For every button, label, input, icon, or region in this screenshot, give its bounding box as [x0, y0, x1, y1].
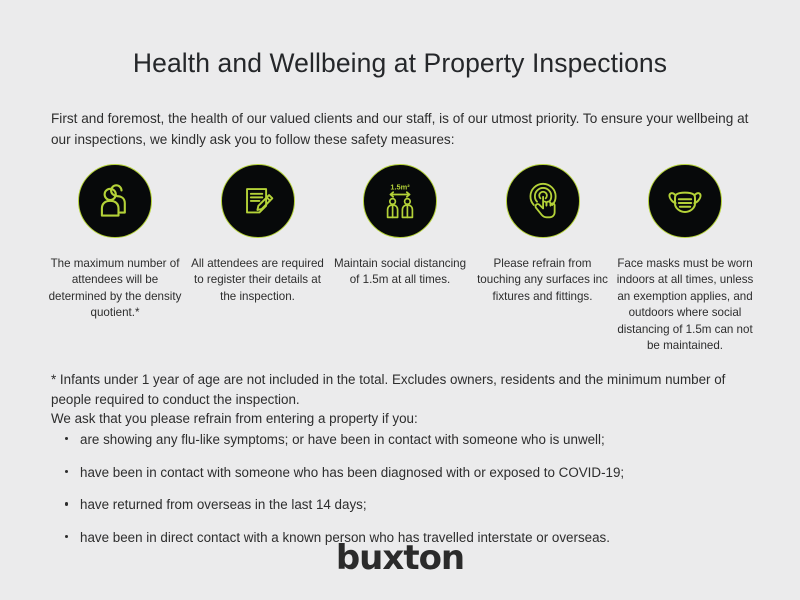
bullet-dot: [65, 437, 68, 440]
measure-caption: The maximum number of attendees will be …: [45, 256, 185, 322]
hand-touch-icon: [506, 164, 580, 238]
measure-item-face-mask: Face masks must be worn indoors at all t…: [614, 164, 756, 355]
measure-item-attendees: The maximum number of attendees will be …: [44, 164, 186, 322]
measure-caption: Please refrain from touching any surface…: [473, 256, 613, 305]
list-item-label: are showing any flu-like symptoms; or ha…: [80, 432, 605, 447]
list-item-label: have returned from overseas in the last …: [80, 497, 367, 512]
measure-caption: Maintain social distancing of 1.5m at al…: [330, 256, 470, 289]
measure-item-no-touch: Please refrain from touching any surface…: [472, 164, 614, 305]
measure-item-register: All attendees are required to register t…: [187, 164, 329, 305]
face-mask-icon: [648, 164, 722, 238]
safety-measures-row: The maximum number of attendees will be …: [44, 164, 756, 355]
footnote-text: * Infants under 1 year of age are not in…: [51, 370, 741, 411]
social-distancing-icon: 1.5m²: [363, 164, 437, 238]
measure-caption: Face masks must be worn indoors at all t…: [611, 256, 759, 355]
list-item: have returned from overseas in the last …: [51, 495, 751, 515]
page-title: Health and Wellbeing at Property Inspect…: [0, 48, 800, 80]
measure-item-distancing: 1.5m² Maintain social distancing of 1.5m…: [329, 164, 471, 289]
document-pencil-icon: [221, 164, 295, 238]
measure-caption: All attendees are required to register t…: [188, 256, 328, 305]
list-item: are showing any flu-like symptoms; or ha…: [51, 430, 751, 450]
distance-label: 1.5m²: [390, 183, 410, 192]
health-wellbeing-poster: Health and Wellbeing at Property Inspect…: [0, 0, 800, 600]
two-people-icon: [78, 164, 152, 238]
bullet-dot: [65, 470, 68, 473]
buxton-logo: buxton: [0, 538, 800, 578]
refrain-intro-line: We ask that you please refrain from ente…: [51, 409, 741, 429]
bullet-dot: [65, 502, 68, 505]
intro-paragraph: First and foremost, the health of our va…: [51, 108, 751, 150]
list-item-label: have been in contact with someone who ha…: [80, 465, 624, 480]
list-item: have been in contact with someone who ha…: [51, 463, 751, 483]
